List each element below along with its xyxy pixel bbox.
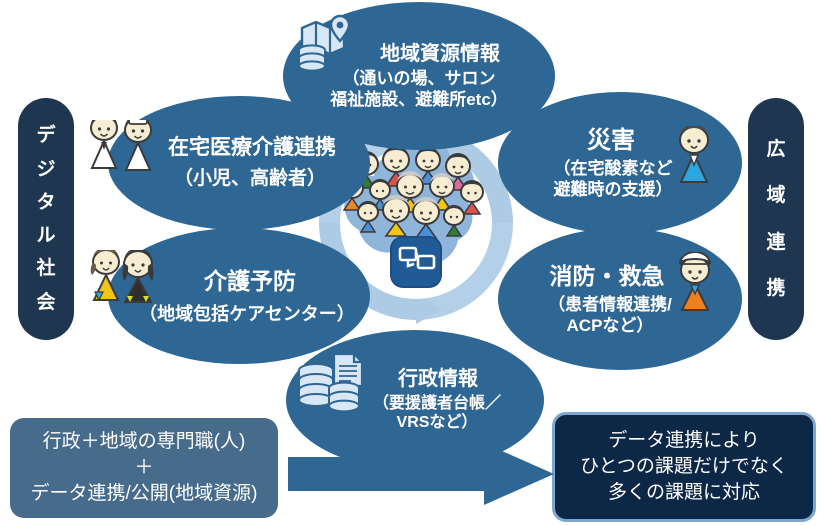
side-pill-left-char-3: ル (36, 226, 55, 245)
side-pill-left-char-4: 社 (36, 259, 55, 278)
side-pill-digital-society: デ ジ タ ル 社 会 (18, 98, 74, 340)
side-pill-wide-area-cooperation: 広 域 連 携 (748, 98, 804, 340)
ellipse-admin-sub-1: VRSなど） (373, 413, 501, 433)
side-pill-left-char-5: 会 (36, 293, 55, 312)
ellipse-homecare-title: 在宅医療介護連携 (168, 135, 336, 161)
output-box-line-2: 多くの課題に対応 (608, 480, 760, 506)
ellipse-resources-sub-1: 福祉施設、避難所etc） (330, 89, 508, 110)
side-pill-right-char-1: 域 (766, 186, 785, 205)
rescue-worker-icon (672, 252, 718, 314)
ellipse-disaster-subtitle: （在宅酸素など 避難時の支援） (554, 158, 673, 200)
document-database-icon (296, 352, 368, 416)
ellipse-prevent-title: 介護予防 (204, 267, 296, 296)
ellipse-prevent-subtitle: （地域包括ケアセンター） (139, 303, 355, 325)
ellipse-resources-subtitle: （通いの場、サロン 福祉施設、避難所etc） (330, 68, 508, 110)
input-summary-box: 行政＋地域の専門職(人) ＋ データ連携/公開(地域資源) (10, 418, 278, 518)
side-pill-right-char-2: 連 (766, 233, 785, 252)
side-pill-left-char-0: デ (36, 126, 55, 145)
ellipse-disaster-title: 災害 (587, 126, 635, 156)
ellipse-admin-subtitle: （要援護者台帳／ VRSなど） (373, 394, 501, 434)
ellipse-fire-subtitle: （患者情報連携/ ACPなど） (548, 294, 672, 336)
side-pill-right-char-3: 携 (766, 279, 785, 298)
map-database-icon (296, 12, 358, 74)
ellipse-prevent-sub-0: （地域包括ケアセンター） (139, 303, 355, 325)
ellipse-fire-sub-1: ACPなど） (548, 315, 672, 336)
output-box-line-0: データ連携により (608, 428, 760, 454)
outcome-summary-box: データ連携により ひとつの課題だけでなく 多くの課題に対応 (552, 412, 816, 522)
side-pill-right-char-0: 広 (766, 140, 785, 159)
two-women-icon (86, 250, 166, 310)
citizen-icon (672, 126, 716, 184)
input-box-line-1: ＋ (134, 455, 153, 481)
doctor-nurse-icon (86, 120, 166, 180)
ellipse-fire-title: 消防・救急 (550, 262, 665, 291)
input-box-line-2: データ連携/公開(地域資源) (31, 481, 258, 507)
ellipse-resources-title: 地域資源情報 (380, 42, 500, 67)
side-pill-left-char-1: ジ (36, 160, 55, 179)
side-pill-left-char-2: タ (36, 193, 55, 212)
ellipse-admin-title: 行政情報 (398, 367, 478, 392)
ellipse-homecare-subtitle: （小児、高齢者） (174, 167, 326, 191)
chat-network-icon (390, 236, 442, 288)
ellipse-disaster-sub-0: （在宅酸素など (554, 158, 673, 179)
ellipse-admin-sub-0: （要援護者台帳／ (373, 394, 501, 414)
output-box-line-1: ひとつの課題だけでなく (580, 454, 788, 480)
ellipse-homecare-sub-0: （小児、高齢者） (174, 167, 326, 191)
input-box-line-0: 行政＋地域の専門職(人) (43, 429, 246, 455)
diagram-canvas: デ ジ タ ル 社 会 広 域 連 携 (0, 0, 825, 526)
ellipse-fire-sub-0: （患者情報連携/ (548, 294, 672, 315)
right-arrow-icon (288, 443, 556, 505)
ellipse-disaster-sub-1: 避難時の支援） (554, 179, 673, 200)
